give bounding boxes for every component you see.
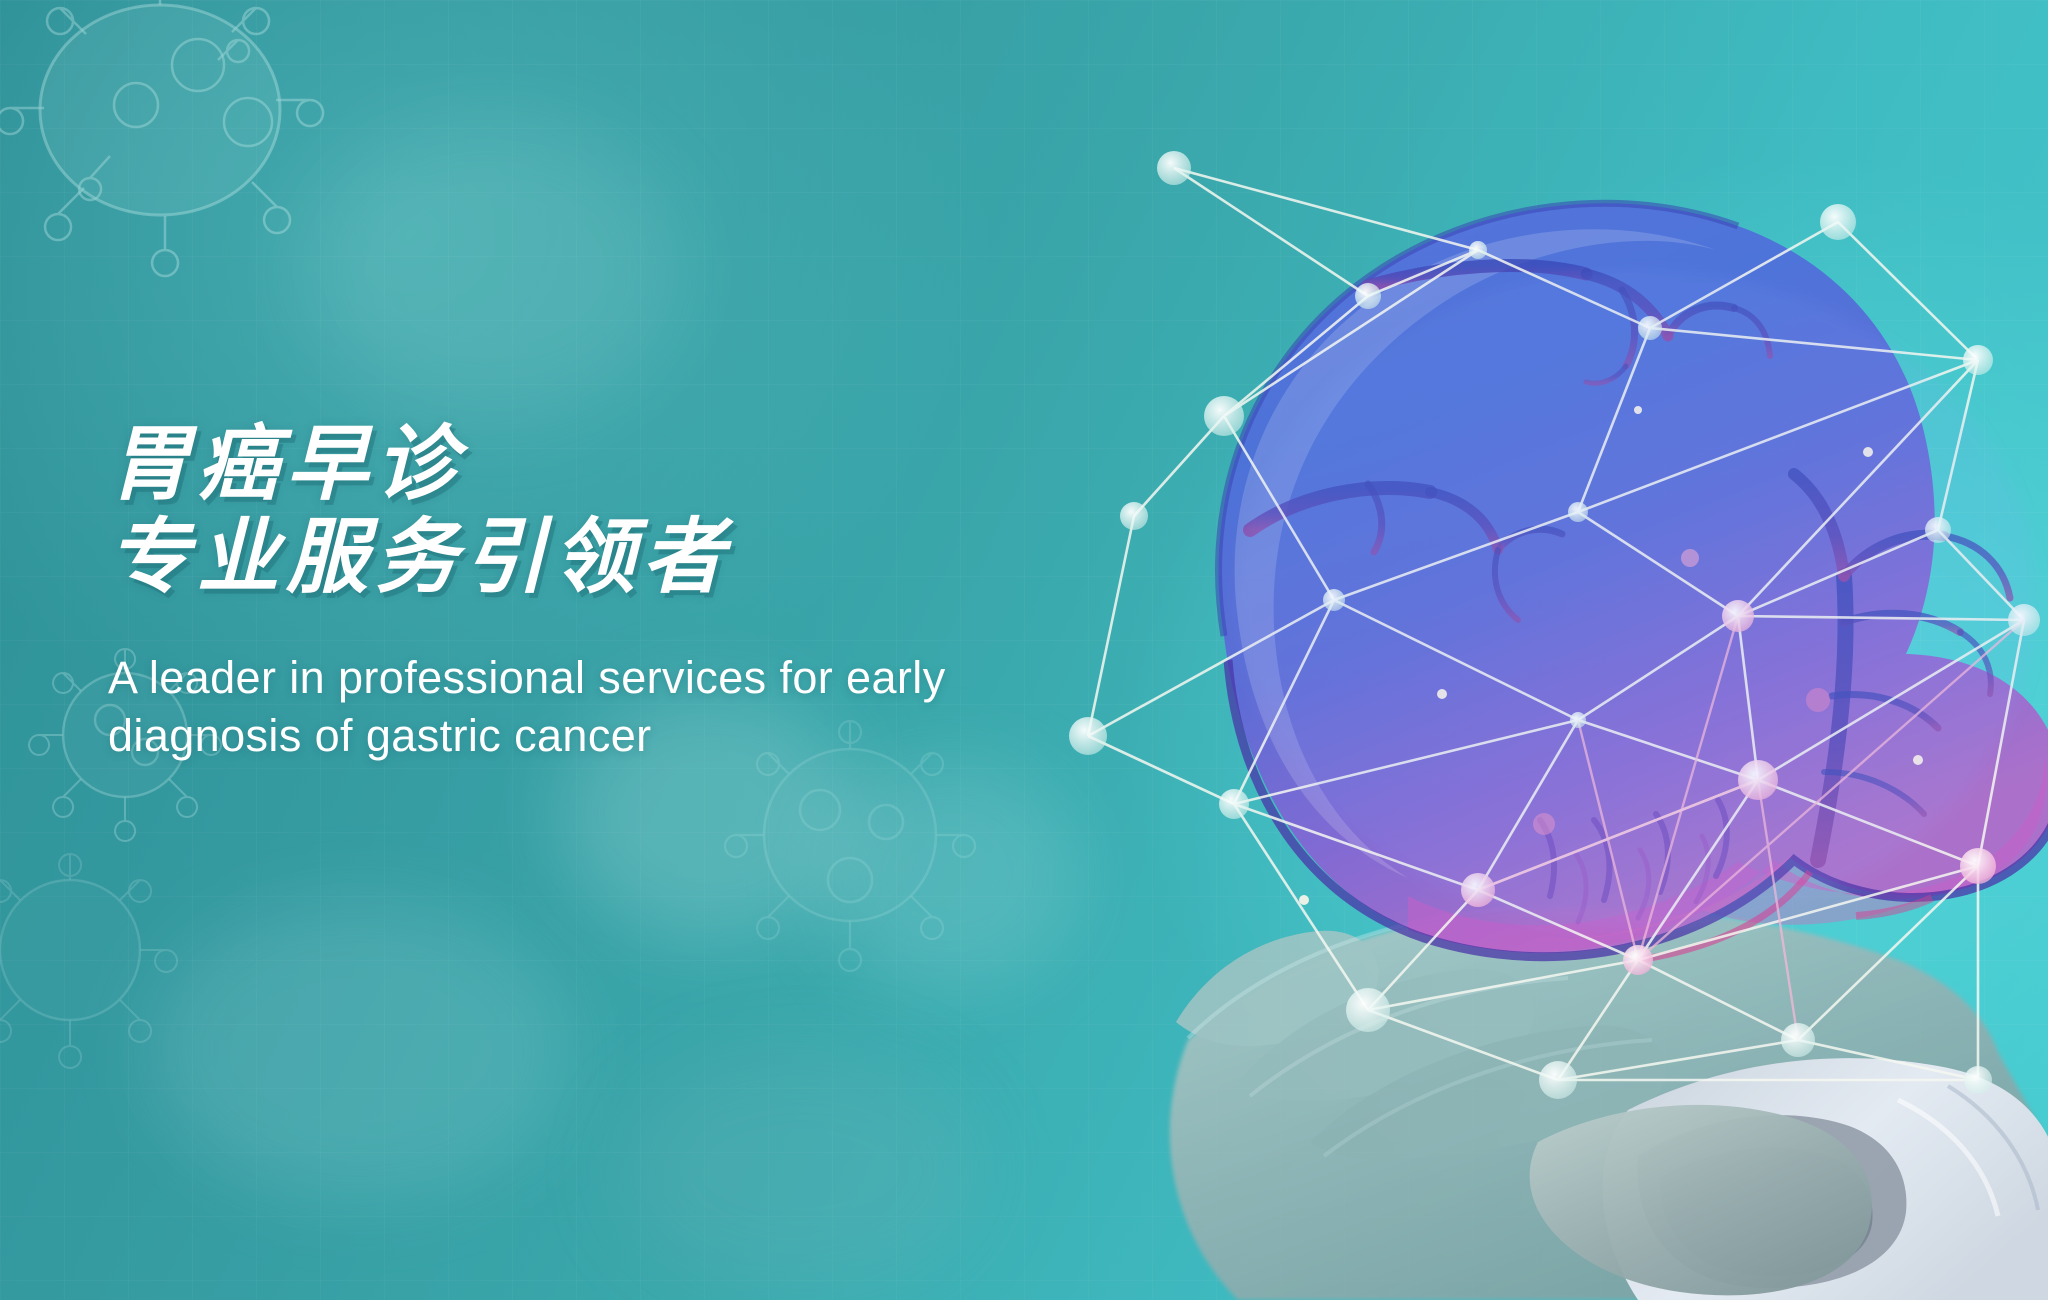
headline-line-1: 胃癌早诊 [108,419,464,510]
headline-block: 胃癌早诊 专业服务引领者 A leader in professional se… [108,418,1108,766]
subtitle-line-2: diagnosis of gastric cancer [108,707,1008,766]
page-title: 胃癌早诊 专业服务引领者 [108,418,1108,605]
subtitle-line-1: A leader in professional services for ea… [108,649,1008,708]
page-subtitle: A leader in professional services for ea… [108,649,1008,766]
headline-line-2: 专业服务引领者 [108,511,1108,604]
gastric-cancer-banner: 胃癌早诊 专业服务引领者 A leader in professional se… [0,0,2048,1300]
